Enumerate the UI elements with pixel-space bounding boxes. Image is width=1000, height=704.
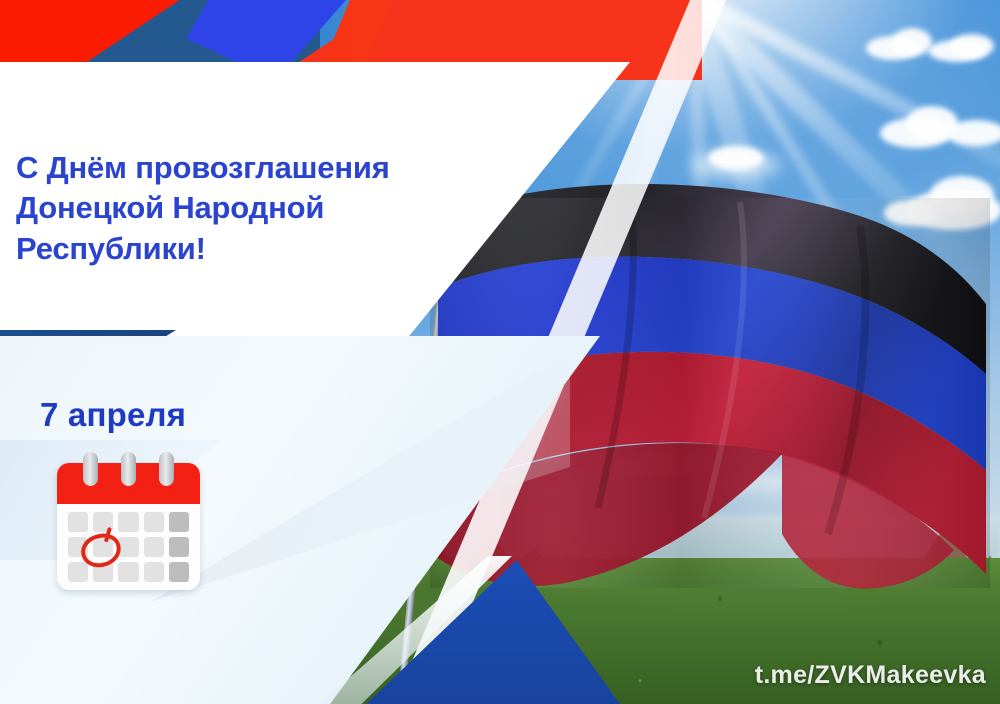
headline-line-3: Республики! <box>16 229 496 269</box>
calendar-day-cell <box>144 562 164 582</box>
headline: С Днём провозглашения Донецкой Народной … <box>16 148 496 269</box>
calendar-ring-2 <box>121 452 136 486</box>
channel-watermark: t.me/ZVKMakeevka <box>755 661 986 690</box>
calendar-day-cell <box>144 537 164 557</box>
calendar-day-cell <box>169 512 189 532</box>
calendar-day-cell <box>118 537 138 557</box>
headline-line-2: Донецкой Народной <box>16 188 496 228</box>
calendar-day-cell <box>118 512 138 532</box>
calendar-day-cell <box>169 562 189 582</box>
headline-line-1: С Днём провозглашения <box>16 148 496 188</box>
calendar-icon <box>57 452 200 590</box>
calendar-day-cell <box>144 512 164 532</box>
calendar-ring-1 <box>83 452 98 486</box>
calendar-day-cell <box>169 537 189 557</box>
calendar-day-cell <box>118 562 138 582</box>
greeting-card-poster: С Днём провозглашения Донецкой Народной … <box>0 0 1000 704</box>
calendar-ring-3 <box>159 452 174 486</box>
calendar-day-cell <box>68 562 88 582</box>
date-label: 7 апреля <box>40 396 186 434</box>
calendar-day-cell <box>68 512 88 532</box>
